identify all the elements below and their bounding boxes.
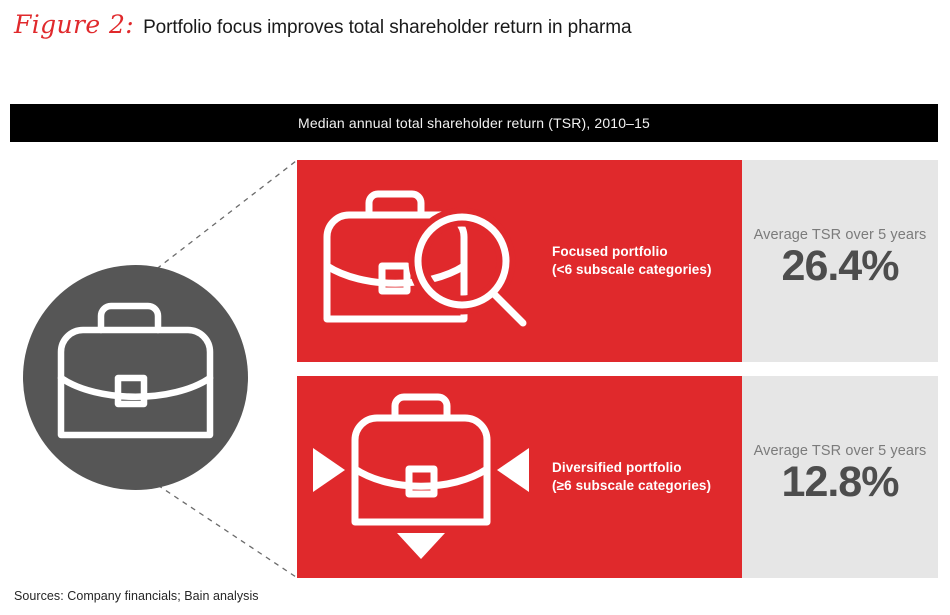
focused-label: Focused portfolio (<6 subscale categorie…: [552, 243, 712, 279]
diversified-label: Diversified portfolio (≥6 subscale categ…: [552, 459, 711, 495]
focused-tsr-caption: Average TSR over 5 years: [754, 227, 927, 243]
row-focused-portfolio: Focused portfolio (<6 subscale categorie…: [297, 160, 938, 362]
focused-label-line2: (<6 subscale categories): [552, 261, 712, 279]
sources-note: Sources: Company financials; Bain analys…: [14, 589, 259, 603]
diversified-label-line1: Diversified portfolio: [552, 460, 682, 475]
chart-header-title: Median annual total shareholder return (…: [298, 115, 650, 131]
focused-tsr-value: 26.4%: [782, 245, 899, 288]
focused-red-panel: Focused portfolio (<6 subscale categorie…: [297, 160, 742, 362]
chart-header-band: Median annual total shareholder return (…: [10, 104, 938, 142]
focused-value-panel: Average TSR over 5 years 26.4%: [742, 160, 938, 362]
diversified-tsr-value: 12.8%: [782, 461, 899, 504]
diversified-icon-slot: [297, 391, 552, 563]
diversified-value-panel: Average TSR over 5 years 12.8%: [742, 376, 938, 578]
briefcase-magnifier-icon: [307, 181, 542, 341]
row-diversified-portfolio: Diversified portfolio (≥6 subscale categ…: [297, 376, 938, 578]
figure-label: Figure 2:: [14, 10, 134, 39]
diversified-label-line2: (≥6 subscale categories): [552, 477, 711, 495]
direction-arrows: [313, 448, 529, 559]
focused-label-line1: Focused portfolio: [552, 244, 668, 259]
briefcase-arrows-icon: [307, 391, 542, 563]
hero-briefcase-badge: [23, 265, 248, 490]
page-title: Figure 2: Portfolio focus improves total…: [14, 10, 934, 52]
figure-headline: Portfolio focus improves total sharehold…: [143, 17, 631, 39]
connector-line-top: [141, 161, 296, 281]
briefcase-icon: [23, 265, 248, 490]
focused-icon-slot: [297, 181, 552, 341]
diversified-tsr-caption: Average TSR over 5 years: [754, 443, 927, 459]
diversified-red-panel: Diversified portfolio (≥6 subscale categ…: [297, 376, 742, 578]
